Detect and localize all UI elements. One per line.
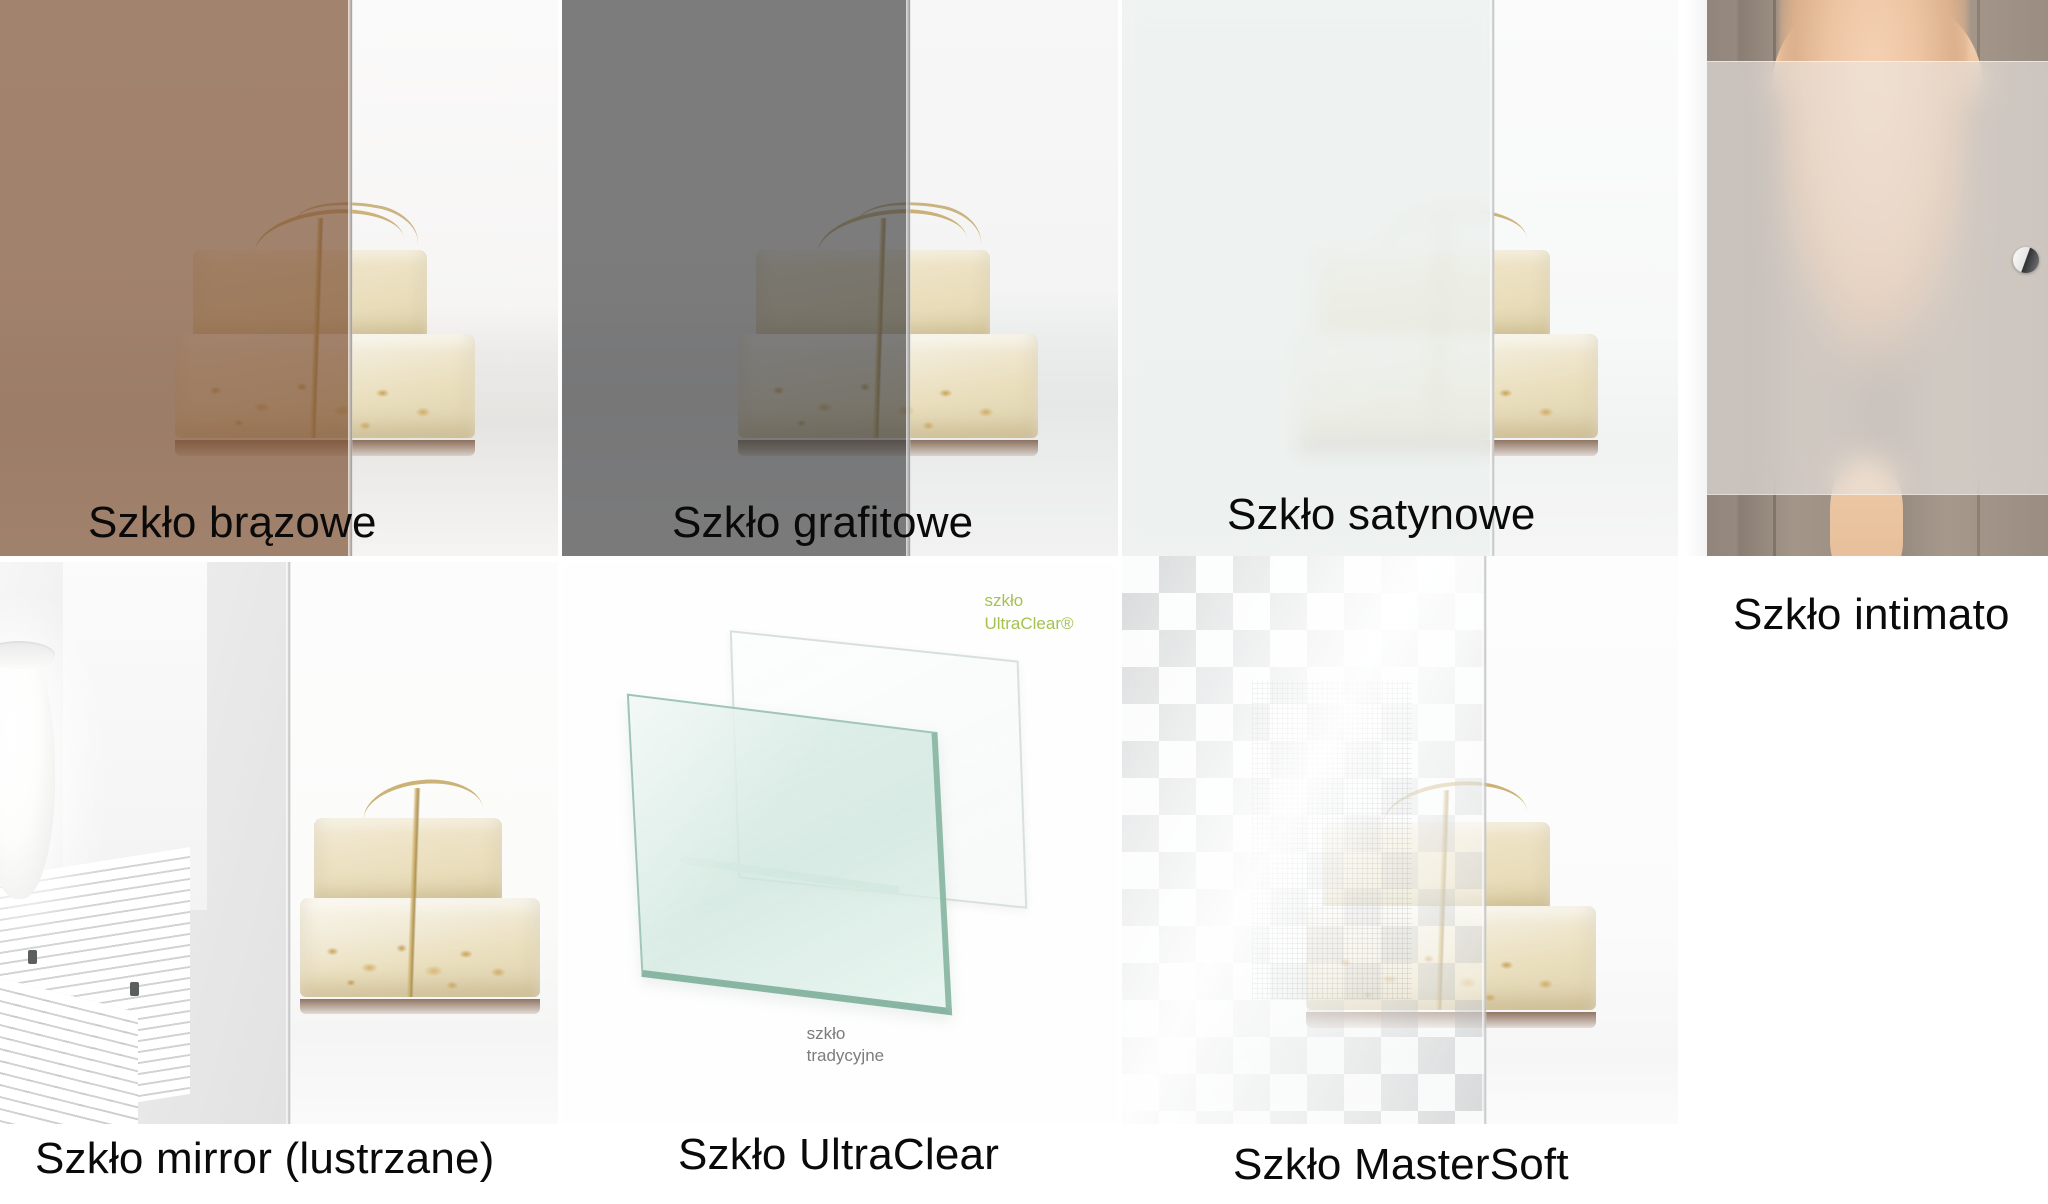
glass-edge-highlight bbox=[1482, 556, 1487, 1124]
soap-oat-texture bbox=[305, 932, 535, 997]
caption-szklo-mirror: Szkło mirror (lustrzane) bbox=[35, 1134, 495, 1184]
caption-szklo-grafitowe: Szkło grafitowe bbox=[672, 498, 973, 548]
tile-szklo-ultraclear[interactable]: szkło UltraClear® szkło tradycyjne bbox=[562, 562, 1118, 1124]
glass-pane-brown bbox=[0, 0, 352, 556]
label-ultraclear: szkło UltraClear® bbox=[984, 590, 1073, 635]
reflected-hardware-dot-1 bbox=[28, 950, 37, 964]
glass-plate-traditional bbox=[627, 693, 953, 1015]
tile-szklo-mirror[interactable] bbox=[0, 562, 558, 1124]
glass-pane-intimato-frosted-band bbox=[1700, 61, 2048, 495]
glass-pane-mirror bbox=[0, 562, 290, 1124]
glass-edge-highlight bbox=[348, 0, 353, 556]
glass-pane-mastersoft bbox=[1122, 556, 1486, 1124]
glass-edge-highlight bbox=[906, 0, 911, 556]
glass-edge-highlight bbox=[286, 562, 291, 1124]
label-ultraclear-line2: UltraClear® bbox=[984, 613, 1073, 635]
glass-edge-highlight bbox=[1490, 0, 1495, 556]
label-tradycyjne: szkło tradycyjne bbox=[807, 1023, 884, 1068]
soap-bar-top bbox=[314, 818, 501, 902]
soap-stack bbox=[300, 818, 540, 1008]
reflected-hardware-dot-2 bbox=[130, 982, 139, 996]
soap-contact-shadow bbox=[300, 999, 540, 1014]
caption-szklo-intimato: Szkło intimato bbox=[1733, 590, 2010, 640]
glass-types-grid: Szkło brązowe Szkło grafitowe bbox=[0, 0, 2048, 1204]
caption-szklo-ultraclear: Szkło UltraClear bbox=[678, 1130, 999, 1180]
glass-pane-satin bbox=[1122, 0, 1494, 556]
label-tradycyjne-line2: tradycyjne bbox=[807, 1045, 884, 1067]
door-frame-edge bbox=[1685, 0, 1707, 556]
reflected-lamp-rim bbox=[0, 641, 55, 669]
tile-szklo-satynowe[interactable]: Szkło satynowe bbox=[1122, 0, 1678, 556]
label-tradycyjne-line1: szkło bbox=[807, 1023, 884, 1045]
glass-pane-graphite bbox=[562, 0, 910, 556]
reflected-lamp bbox=[0, 641, 55, 900]
shower-scene-intimato bbox=[1685, 0, 2048, 556]
label-ultraclear-line1: szkło bbox=[984, 590, 1073, 612]
caption-szklo-brazowe: Szkło brązowe bbox=[88, 498, 377, 548]
tile-szklo-intimato[interactable] bbox=[1685, 0, 2048, 556]
caption-szklo-satynowe: Szkło satynowe bbox=[1227, 490, 1536, 540]
tile-szklo-grafitowe[interactable]: Szkło grafitowe bbox=[562, 0, 1118, 556]
tile-szklo-brazowe[interactable]: Szkło brązowe bbox=[0, 0, 558, 556]
mastersoft-fine-grid-texture bbox=[1252, 681, 1411, 999]
caption-szklo-mastersoft: Szkło MasterSoft bbox=[1233, 1140, 1569, 1190]
tile-szklo-mastersoft[interactable] bbox=[1122, 556, 1678, 1124]
ultraclear-stage: szkło UltraClear® szkło tradycyjne bbox=[562, 562, 1118, 1124]
